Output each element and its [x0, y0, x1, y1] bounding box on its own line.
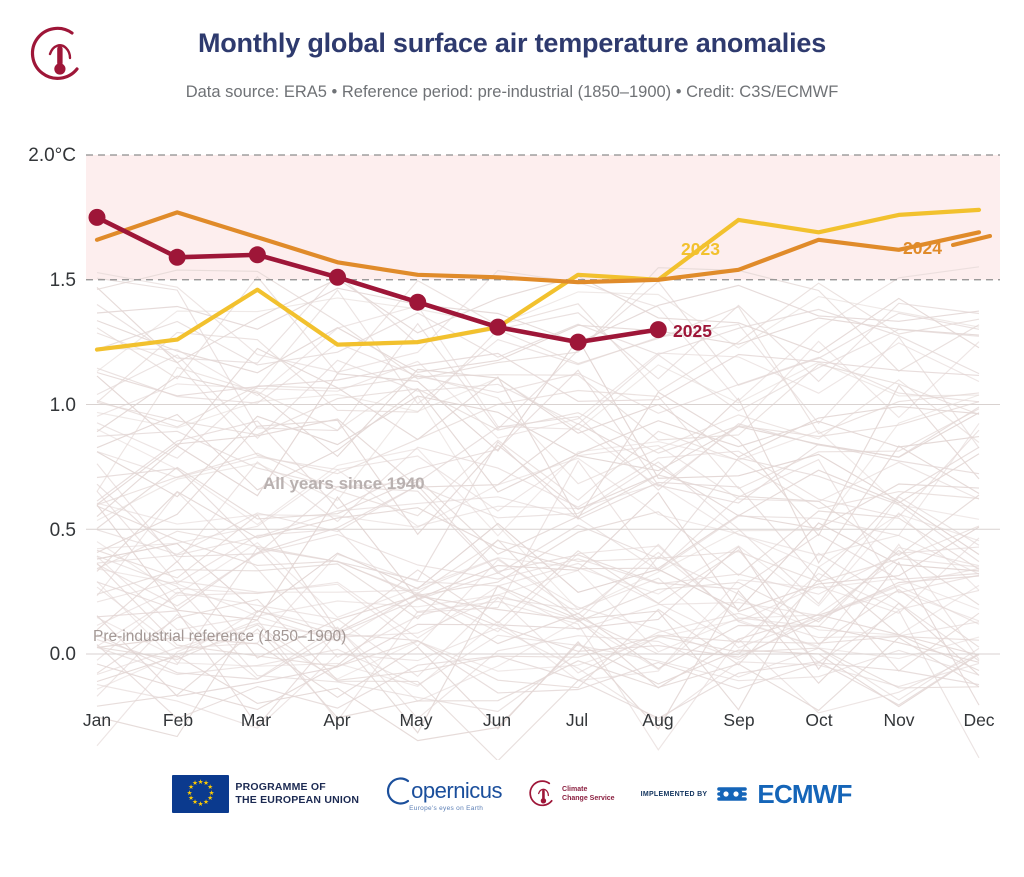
data-point-2025-Jul — [570, 334, 587, 351]
eu-logo: ★★★★★★★★★★★★ PROGRAMME OF THE EUROPEAN U… — [172, 775, 359, 813]
eu-star-icon: ★ — [198, 802, 204, 809]
y-tick-0.0: 0.0 — [8, 644, 76, 666]
background-year-line — [97, 389, 979, 453]
data-point-2025-Mar — [249, 246, 266, 263]
x-tick-nov: Nov — [864, 710, 934, 731]
background-year-line — [97, 268, 979, 379]
data-point-2025-May — [409, 294, 426, 311]
chart-footer: ★★★★★★★★★★★★ PROGRAMME OF THE EUROPEAN U… — [0, 775, 1024, 845]
data-point-2025-Aug — [650, 321, 667, 338]
background-year-line — [97, 442, 979, 580]
c3s-logo-text: Climate Change Service — [562, 785, 615, 803]
eu-star-icon: ★ — [192, 781, 198, 788]
copernicus-tagline: Europe's eyes on Earth — [409, 805, 483, 812]
data-point-2025-Jan — [89, 209, 106, 226]
data-point-2025-Apr — [329, 269, 346, 286]
implemented-by-label: IMPLEMENTED BY — [641, 791, 708, 798]
chart-svg — [0, 0, 1024, 760]
y-tick-1.0: 1.0 — [8, 395, 76, 417]
data-point-2025-Feb — [169, 249, 186, 266]
x-tick-may: May — [381, 710, 451, 731]
c3s-logo: Climate Change Service — [528, 778, 615, 810]
annotation-all-years: All years since 1940 — [263, 474, 425, 494]
copernicus-logo: opernicus Europe's eyes on Earth — [385, 776, 502, 812]
x-tick-jun: Jun — [462, 710, 532, 731]
eu-line-1: PROGRAMME OF — [235, 781, 359, 794]
series-label-2025: 2025 — [673, 321, 712, 342]
y-tick-0.5: 0.5 — [8, 520, 76, 542]
y-tick-2.0: 2.0°C — [8, 145, 76, 167]
x-tick-jan: Jan — [62, 710, 132, 731]
x-tick-jul: Jul — [542, 710, 612, 731]
c3s-thermometer-small-icon — [528, 778, 558, 810]
x-tick-mar: Mar — [221, 710, 291, 731]
y-tick-1.5: 1.5 — [8, 270, 76, 292]
chart-plot-area: 2.0°C 1.5 1.0 0.5 0.0 Jan Feb Mar Apr Ma… — [0, 0, 1024, 760]
highlight-band-1p5-2p0 — [86, 155, 1000, 280]
ecmwf-wordmark: ECMWF — [757, 779, 851, 810]
c3s-line-2: Change Service — [562, 794, 615, 803]
chart-page: Monthly global surface air temperature a… — [0, 0, 1024, 877]
series-label-2024: 2024 — [903, 238, 942, 259]
x-tick-feb: Feb — [143, 710, 213, 731]
copernicus-wordmark: opernicus — [411, 778, 502, 804]
eu-flag-icon: ★★★★★★★★★★★★ — [172, 775, 229, 813]
c3s-line-1: Climate — [562, 785, 615, 794]
series-label-2023: 2023 — [681, 239, 720, 260]
x-tick-dec: Dec — [944, 710, 1014, 731]
eu-line-2: THE EUROPEAN UNION — [235, 794, 359, 807]
background-year-line — [97, 362, 979, 429]
copernicus-c-icon — [385, 776, 411, 806]
background-years-lines — [97, 267, 979, 760]
annotation-pre-industrial: Pre-industrial reference (1850–1900) — [93, 628, 346, 646]
eu-star-icon: ★ — [203, 800, 209, 807]
background-year-line — [97, 513, 979, 617]
x-tick-apr: Apr — [302, 710, 372, 731]
ecmwf-mark-icon — [715, 782, 749, 806]
x-tick-sep: Sep — [704, 710, 774, 731]
x-tick-oct: Oct — [784, 710, 854, 731]
ecmwf-logo: IMPLEMENTED BY ECMWF — [641, 779, 852, 810]
x-tick-aug: Aug — [623, 710, 693, 731]
eu-logo-text: PROGRAMME OF THE EUROPEAN UNION — [235, 781, 359, 807]
data-point-2025-Jun — [489, 319, 506, 336]
